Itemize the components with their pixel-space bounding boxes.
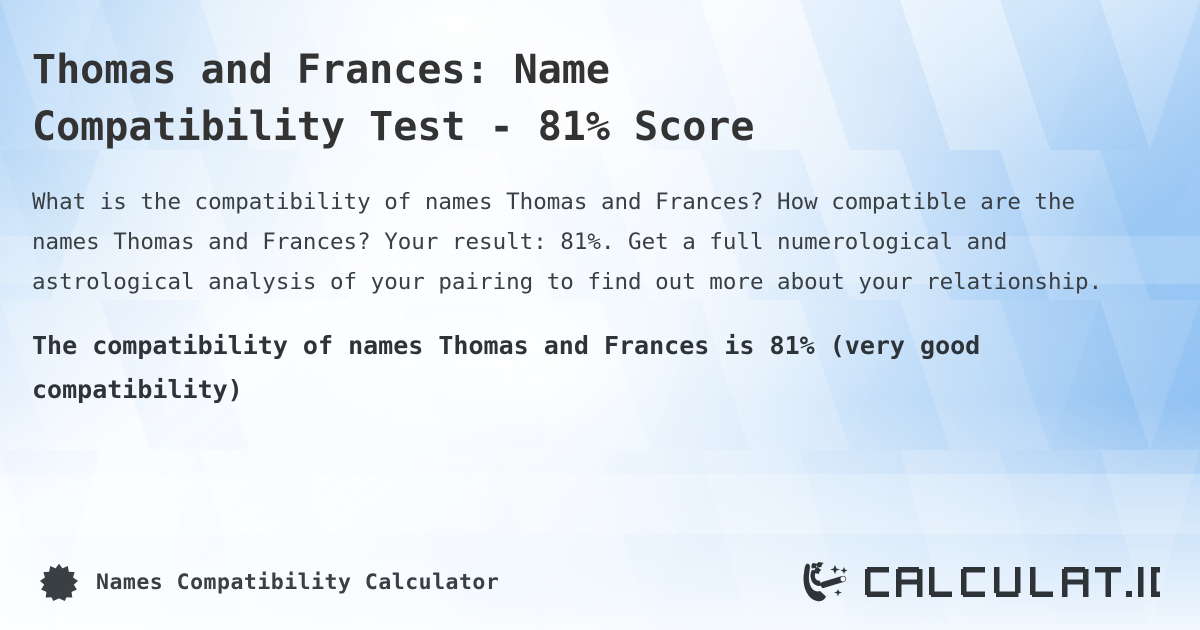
brand-name: Names Compatibility Calculator [96,570,499,595]
main-content: Thomas and Frances: Name Compatibility T… [32,42,1168,412]
intro-paragraph: What is the compatibility of names Thoma… [32,182,1152,302]
footer-brand[interactable]: Names Compatibility Calculator [40,563,499,601]
site-logo[interactable] [802,560,1162,604]
logo-wordmark [862,560,1162,604]
result-statement: The compatibility of names Thomas and Fr… [32,324,1152,412]
page-title: Thomas and Frances: Name Compatibility T… [32,42,1168,156]
page-root: Thomas and Frances: Name Compatibility T… [0,0,1200,630]
footer-bar: Names Compatibility Calculator [0,534,1200,630]
burst-star-icon [40,563,78,601]
hand-magic-wand-icon [802,560,856,604]
